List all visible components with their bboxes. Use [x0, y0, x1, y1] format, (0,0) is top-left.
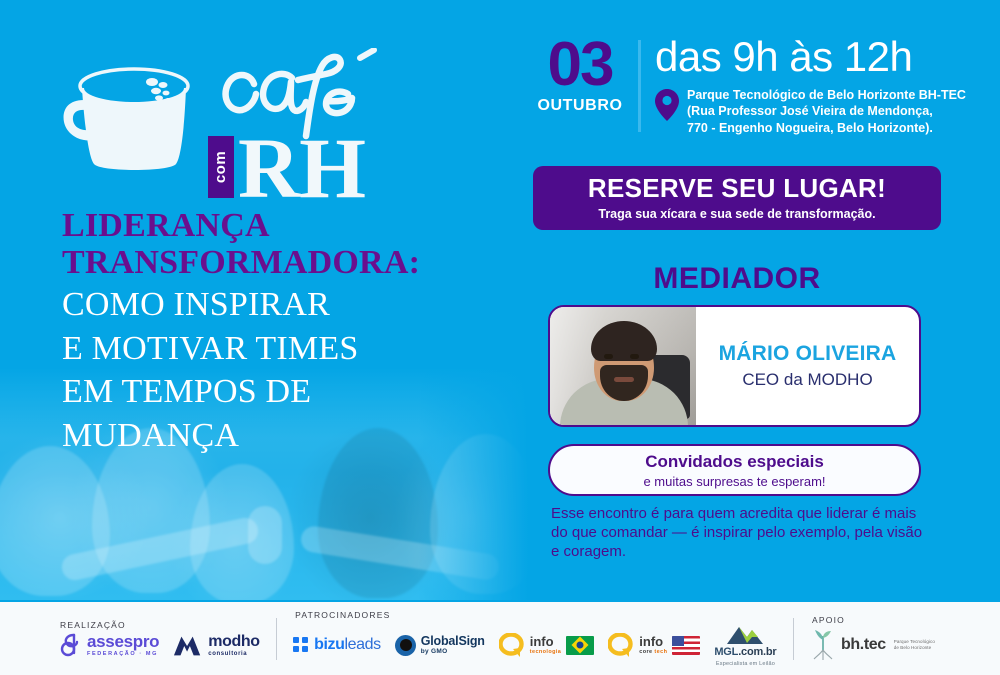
event-poster: com RH LIDERANÇA TRANSFORMADORA: COMO IN… — [0, 0, 1000, 675]
brand-logo: com RH — [60, 48, 390, 188]
headline-white-line-2: E MOTIVAR TIMES — [62, 329, 492, 368]
location-line-3: 770 - Engenho Nogueira, Belo Horizonte). — [687, 120, 966, 136]
usa-flag-icon — [672, 636, 700, 655]
logo-modho[interactable]: modho consultoria — [173, 634, 259, 657]
logo-assespro[interactable]: assespro FEDERAÇÃO · MG — [58, 633, 159, 658]
com-badge: com — [208, 136, 234, 198]
mgl-name-part-b: .com.br — [738, 646, 776, 658]
globalsign-name: GlobalSign — [421, 635, 485, 648]
mgl-name-part-a: MGL — [714, 646, 738, 658]
portrait-eye-left — [604, 354, 613, 359]
info-tecnologia-name: info — [530, 635, 562, 648]
modho-mark-icon — [173, 634, 203, 656]
portrait-mouth — [614, 377, 634, 382]
guests-subtitle: e muitas surpresas te esperam! — [643, 474, 825, 489]
globalsign-eye-icon — [395, 635, 416, 656]
event-month: OUTUBRO — [532, 97, 628, 115]
assespro-mark-icon — [58, 633, 82, 657]
footer-group-realizacao: REALIZAÇÃO assespro FEDERAÇÃO · MG — [58, 602, 260, 675]
event-description: Esse encontro é para quem acredita que l… — [551, 505, 933, 562]
brazil-flag-icon — [566, 636, 594, 655]
guests-title: Convidados especiais — [645, 452, 824, 472]
info-core-tech-name: info — [639, 635, 667, 648]
footer-group-patrocinadores: PATROCINADORES bizuleads GlobalSign by G… — [293, 602, 776, 675]
assespro-name: assespro — [87, 633, 159, 650]
info-core-tech-sub-b: tech — [654, 649, 667, 655]
sponsors-footer: REALIZAÇÃO assespro FEDERAÇÃO · MG — [0, 602, 1000, 675]
event-datetime-block: 03 OUTUBRO das 9h às 12h Parque Tecnológ… — [532, 36, 966, 136]
footer-divider-2 — [793, 618, 795, 660]
mediator-name: MÁRIO OLIVEIRA — [719, 342, 897, 366]
cta-subtitle: Traga sua xícara e sua sede de transform… — [598, 207, 875, 221]
bizuleads-name-part-b: leads — [345, 636, 381, 653]
reserve-cta-banner[interactable]: RESERVE SEU LUGAR! Traga sua xícara e su… — [533, 166, 941, 230]
logo-mgl[interactable]: MGL.com.br Especialista em Leilão — [714, 623, 776, 667]
headline-purple-line-2: TRANSFORMADORA: — [62, 245, 492, 282]
bhtec-name: bh.tec — [841, 637, 886, 653]
headline-white-line-4: MUDANÇA — [62, 416, 492, 455]
headline-white-line-3: EM TEMPOS DE — [62, 372, 492, 411]
com-label: com — [208, 136, 234, 198]
headline-block: LIDERANÇA TRANSFORMADORA: COMO INSPIRAR … — [62, 208, 492, 455]
logo-bhtec[interactable]: bh.tec Parque Tecnológico de Belo Horizo… — [810, 628, 935, 662]
time-location-block: das 9h às 12h Parque Tecnológico de Belo… — [655, 36, 966, 136]
portrait-eye-right — [630, 354, 639, 359]
location-lines: Parque Tecnológico de Belo Horizonte BH-… — [687, 87, 966, 136]
info-q-icon — [499, 633, 525, 657]
rh-wordmark: RH — [238, 130, 365, 207]
mediator-info: MÁRIO OLIVEIRA CEO da MODHO — [696, 307, 919, 425]
info-core-tech-sub: core tech — [639, 650, 667, 656]
mgl-mountain-icon — [725, 623, 765, 645]
bhtec-tree-icon — [810, 628, 836, 662]
event-location: Parque Tecnológico de Belo Horizonte BH-… — [655, 87, 966, 136]
event-day: 03 — [532, 36, 628, 93]
modho-sub: consultoria — [208, 651, 259, 657]
date-block: 03 OUTUBRO — [532, 36, 628, 115]
location-line-1: Parque Tecnológico de Belo Horizonte BH-… — [687, 87, 966, 103]
footer-group-label: PATROCINADORES — [293, 610, 776, 620]
bhtec-sub-line-2: de Belo Horizonte — [894, 645, 935, 651]
headline-purple-line-1: LIDERANÇA — [62, 208, 492, 245]
footer-group-label: REALIZAÇÃO — [58, 620, 260, 630]
logo-bizuleads[interactable]: bizuleads — [293, 636, 381, 654]
event-time: das 9h às 12h — [655, 36, 966, 78]
mediator-card: MÁRIO OLIVEIRA CEO da MODHO — [548, 305, 921, 427]
bizuleads-mark-icon — [293, 637, 309, 653]
cta-title: RESERVE SEU LUGAR! — [588, 175, 886, 202]
bizuleads-name: bizuleads — [314, 636, 381, 654]
assespro-sub: FEDERAÇÃO · MG — [87, 652, 159, 658]
vertical-divider — [638, 40, 641, 132]
footer-group-label: APOIO — [810, 615, 935, 625]
photo-hands — [248, 506, 282, 564]
mediator-heading: MEDIADOR — [533, 262, 941, 296]
info-core-tech-sub-a: core — [639, 649, 654, 655]
globalsign-sub: by GMO — [421, 649, 485, 656]
mediator-photo — [550, 307, 696, 425]
special-guests-box: Convidados especiais e muitas surpresas … — [548, 444, 921, 496]
mgl-name: MGL.com.br — [714, 646, 776, 658]
mediator-role: CEO da MODHO — [742, 370, 872, 390]
mgl-sub: Especialista em Leilão — [716, 661, 775, 667]
coffee-cup-icon — [60, 58, 200, 178]
bizuleads-name-part-a: bizu — [314, 636, 344, 653]
modho-name: modho — [208, 634, 259, 650]
logo-globalsign[interactable]: GlobalSign by GMO — [395, 635, 485, 656]
location-line-2: (Rua Professor José Vieira de Mendonça, — [687, 103, 966, 119]
map-pin-icon — [655, 89, 679, 121]
footer-divider-1 — [276, 618, 278, 660]
logo-info-tecnologia[interactable]: info tecnologia — [499, 633, 595, 657]
headline-white-line-1: COMO INSPIRAR — [62, 285, 492, 324]
footer-group-apoio: APOIO bh.tec Parque Tecnológico de Belo … — [810, 602, 935, 675]
logo-info-core-tech[interactable]: info core tech — [608, 633, 700, 657]
info-tecnologia-sub: tecnologia — [530, 650, 562, 656]
info-q-icon — [608, 633, 634, 657]
